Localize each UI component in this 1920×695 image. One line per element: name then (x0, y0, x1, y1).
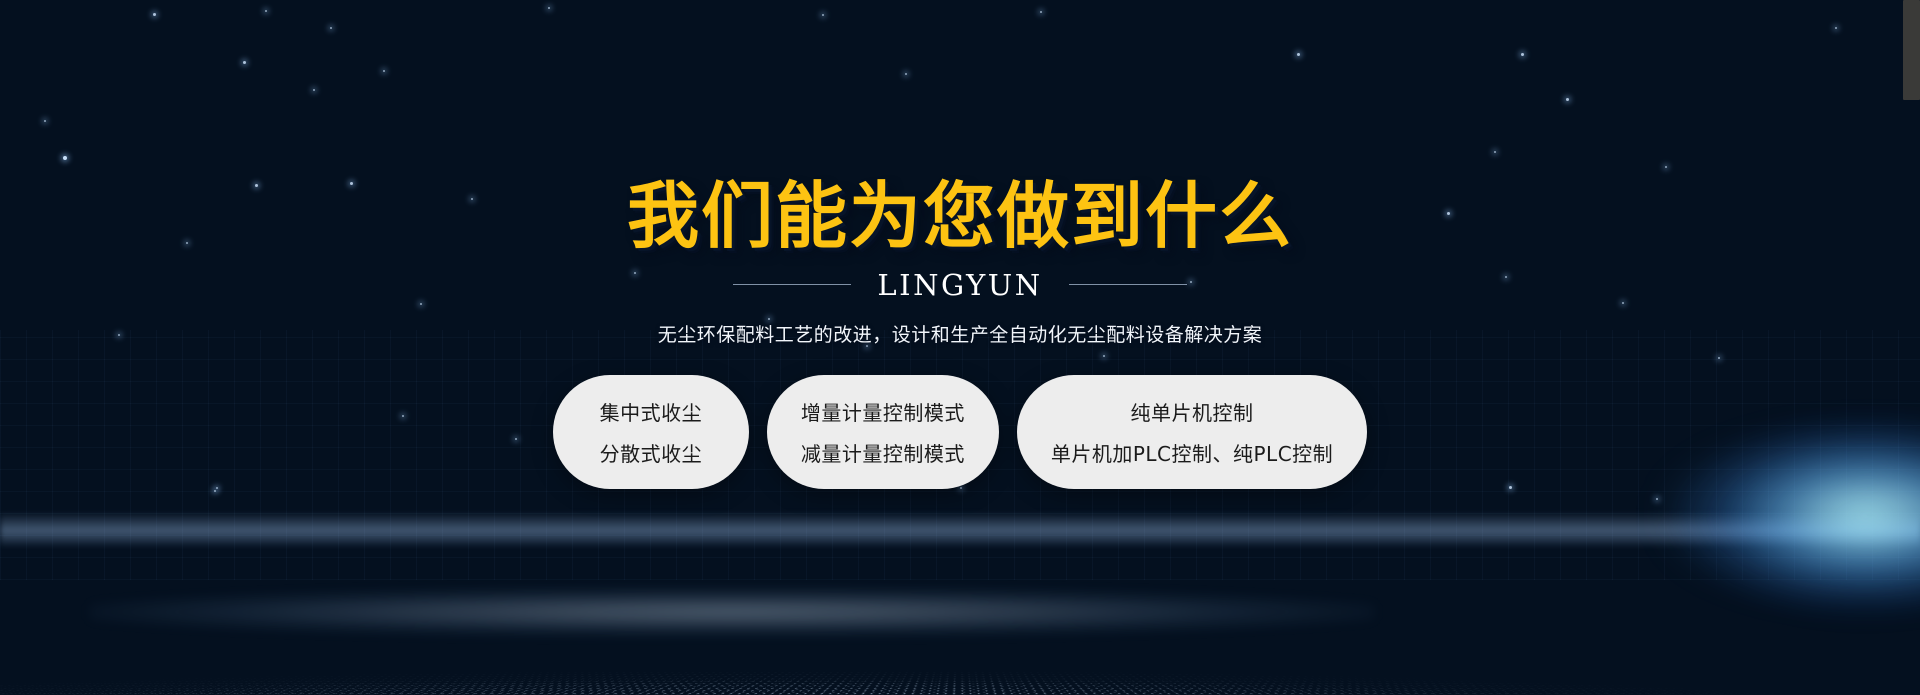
wave-dot-grid-front (0, 654, 1920, 695)
banner-description: 无尘环保配料工艺的改进，设计和生产全自动化无尘配料设备解决方案 (0, 320, 1920, 347)
feature-card-line-2: 单片机加PLC控制、纯PLC控制 (1051, 438, 1333, 467)
banner-headline: 我们能为您做到什么 (0, 178, 1920, 256)
scrollbar-thumb[interactable] (1903, 0, 1920, 100)
subtitle-row: LINGYUN (0, 268, 1920, 302)
digital-wave-floor (0, 505, 1920, 695)
feature-card-line-1: 纯单片机控制 (1051, 397, 1333, 426)
divider-line-left (733, 284, 851, 285)
horizon-glow (0, 512, 1920, 546)
hero-banner: 我们能为您做到什么 LINGYUN 无尘环保配料工艺的改进，设计和生产全自动化无… (0, 0, 1920, 695)
wave-crest-highlight (89, 589, 1375, 635)
feature-card[interactable]: 纯单片机控制 单片机加PLC控制、纯PLC控制 (1017, 375, 1367, 489)
banner-content: 我们能为您做到什么 LINGYUN 无尘环保配料工艺的改进，设计和生产全自动化无… (0, 0, 1920, 489)
wave-layer (0, 505, 1920, 695)
feature-card-line-2: 减量计量控制模式 (801, 438, 965, 467)
feature-card-line-1: 集中式收尘 (587, 397, 715, 426)
feature-card-line-1: 增量计量控制模式 (801, 397, 965, 426)
feature-card[interactable]: 增量计量控制模式 减量计量控制模式 (767, 375, 999, 489)
feature-card-list: 集中式收尘 分散式收尘 增量计量控制模式 减量计量控制模式 纯单片机控制 单片机… (0, 375, 1920, 489)
banner-subtitle: LINGYUN (877, 268, 1042, 302)
divider-line-right (1069, 284, 1187, 285)
page-scrollbar[interactable] (1903, 0, 1920, 695)
feature-card[interactable]: 集中式收尘 分散式收尘 (553, 375, 749, 489)
star-dot (214, 490, 216, 492)
feature-card-line-2: 分散式收尘 (587, 438, 715, 467)
star-dot (1656, 498, 1658, 500)
wave-dot-grid-back (0, 657, 1920, 695)
